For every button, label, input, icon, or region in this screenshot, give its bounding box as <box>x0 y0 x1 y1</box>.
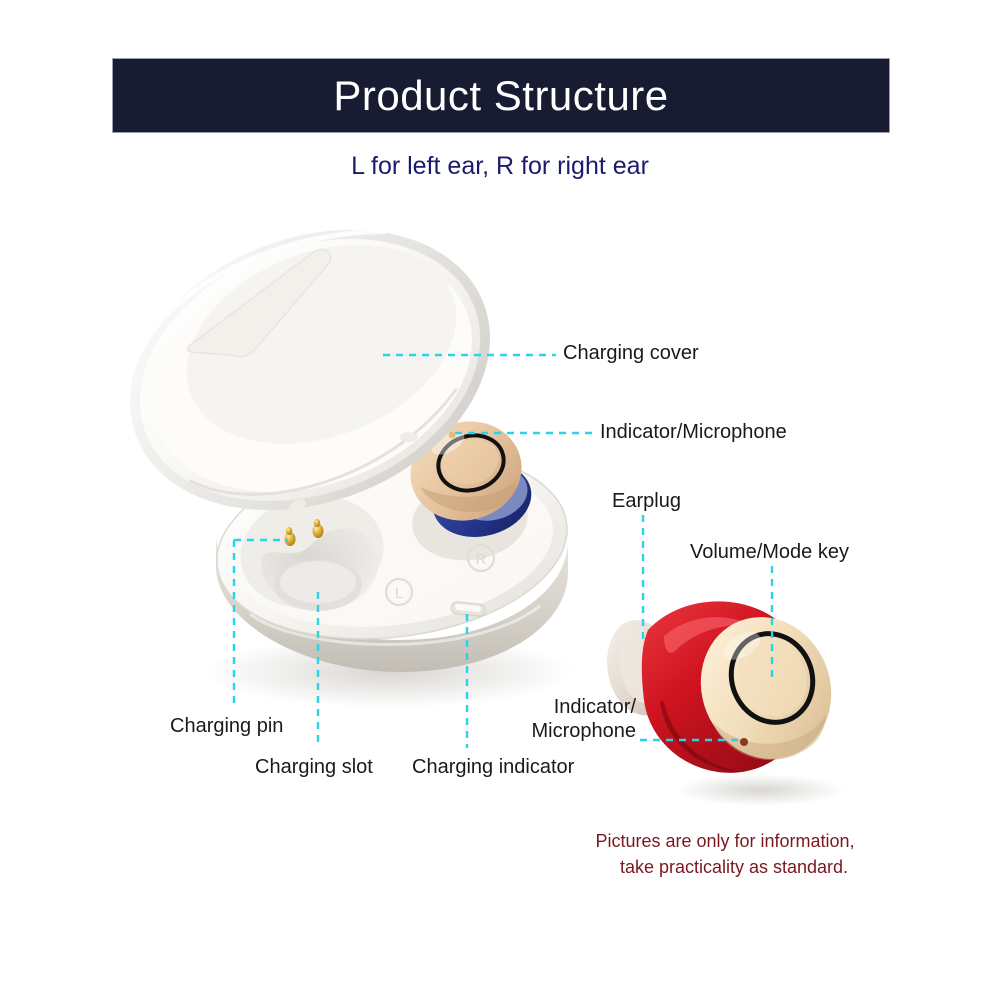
indicator-microphone-dot <box>740 738 748 746</box>
label-charging-slot: Charging slot <box>255 755 373 779</box>
label-indicator-microphone-top: Indicator/Microphone <box>600 420 787 444</box>
indicator-dot <box>449 432 456 439</box>
earbud-right-red <box>607 597 852 806</box>
svg-text:R: R <box>476 551 487 568</box>
label-indicator-microphone-bottom: Indicator/ Microphone <box>518 695 636 744</box>
charging-case-base: L R <box>206 432 578 672</box>
earbud-in-case <box>399 408 540 547</box>
disclaimer-line-1: Pictures are only for information, <box>595 831 854 851</box>
charging-indicator-notch <box>450 601 485 616</box>
subtitle: L for left ear, R for right ear <box>0 152 1000 181</box>
label-earplug: Earplug <box>612 489 681 513</box>
label-indicator-microphone-line1: Indicator/ <box>554 696 636 718</box>
label-charging-indicator: Charging indicator <box>412 755 574 779</box>
label-volume-mode-key: Volume/Mode key <box>690 540 849 564</box>
disclaimer-line-2: take practicality as standard. <box>560 854 890 880</box>
charging-cover-lid <box>89 180 531 560</box>
slot-marking-R: R <box>468 545 494 571</box>
page-title: Product Structure <box>333 75 668 117</box>
slot-marking-L: L <box>386 579 412 605</box>
disclaimer: Pictures are only for information, take … <box>560 828 890 880</box>
svg-text:L: L <box>395 585 403 602</box>
product-structure-page: Product Structure L for left ear, R for … <box>0 0 1000 1000</box>
volume-mode-key[interactable] <box>718 621 826 734</box>
label-charging-cover: Charging cover <box>563 341 699 365</box>
label-indicator-microphone-line2: Microphone <box>531 720 636 742</box>
charging-slot-right <box>407 472 533 567</box>
earbud-face <box>680 597 853 778</box>
charging-pin-group <box>285 519 324 546</box>
header-bar: Product Structure <box>112 58 890 133</box>
charging-slot-left <box>231 484 392 619</box>
label-charging-pin: Charging pin <box>170 714 283 738</box>
earbud-body <box>642 601 811 772</box>
